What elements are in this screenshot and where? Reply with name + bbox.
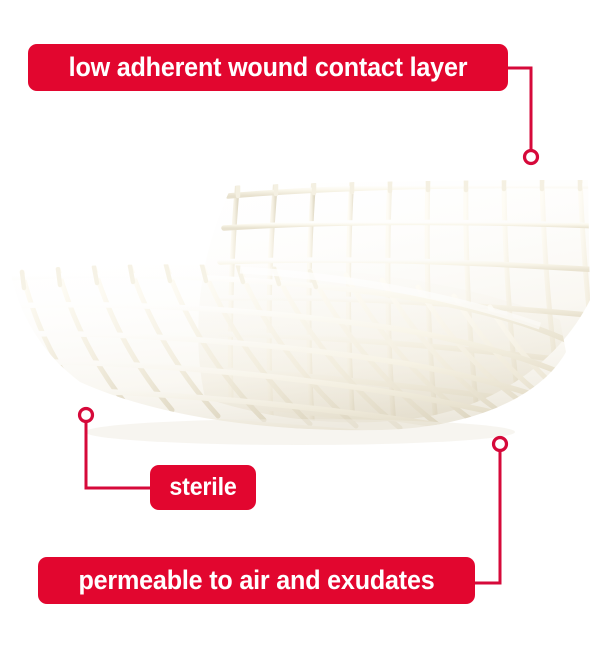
connector-dot-sterile bbox=[80, 409, 93, 422]
connector-dot-permeable bbox=[494, 438, 507, 451]
connector-line-permeable bbox=[473, 452, 500, 583]
infographic-root: low adherent wound contact layer sterile… bbox=[0, 0, 600, 649]
callout-badge-permeable[interactable]: permeable to air and exudates bbox=[38, 557, 475, 604]
callout-label-sterile: sterile bbox=[165, 473, 241, 502]
callout-label-low-adherent: low adherent wound contact layer bbox=[58, 52, 478, 83]
connector-line-low-adherent bbox=[506, 68, 531, 150]
callout-label-permeable: permeable to air and exudates bbox=[66, 565, 446, 596]
connector-line-sterile bbox=[86, 423, 152, 488]
callout-badge-low-adherent[interactable]: low adherent wound contact layer bbox=[28, 44, 508, 91]
connector-dot-low-adherent bbox=[525, 151, 538, 164]
callout-connectors bbox=[0, 0, 600, 649]
callout-badge-sterile[interactable]: sterile bbox=[150, 465, 256, 510]
